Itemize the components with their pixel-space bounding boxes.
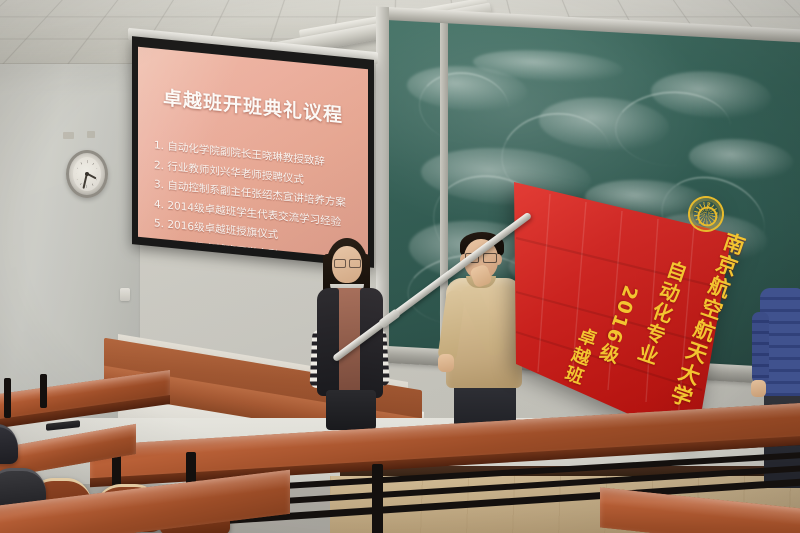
vest-left-panel [317, 288, 339, 396]
red-presentation-banner[interactable]: 南京航空航天大学 自动化专业 2016级 卓越班 [508, 176, 738, 448]
wall-socket[interactable] [120, 288, 130, 301]
presentation-slide: 卓越班开班典礼议程 1. 自动化学院副院长王晓琳教授致辞 2. 行业教师刘兴华老… [138, 47, 368, 260]
person-woman-presenter [306, 238, 398, 428]
wall-clock [66, 150, 108, 198]
lower-hand [438, 354, 454, 372]
glasses-icon [334, 259, 361, 266]
jacket-sleeve [752, 312, 769, 384]
wall-mark [87, 131, 95, 138]
desk-leg [4, 378, 11, 418]
desk-leg [40, 374, 47, 408]
hand [751, 380, 766, 397]
clock-face [73, 157, 101, 191]
clock-center-pin [85, 172, 89, 176]
trousers [326, 390, 376, 430]
projection-screen[interactable]: 卓越班开班典礼议程 1. 自动化学院副院长王晓琳教授致辞 2. 行业教师刘兴华老… [132, 36, 374, 268]
wall-mark [63, 132, 74, 139]
photo-scene: 卓越班开班典礼议程 1. 自动化学院副院长王晓琳教授致辞 2. 行业教师刘兴华老… [0, 0, 800, 533]
vest-right-panel [360, 288, 383, 398]
slide-title: 卓越班开班典礼议程 [138, 81, 368, 131]
desk-leg [372, 464, 383, 533]
